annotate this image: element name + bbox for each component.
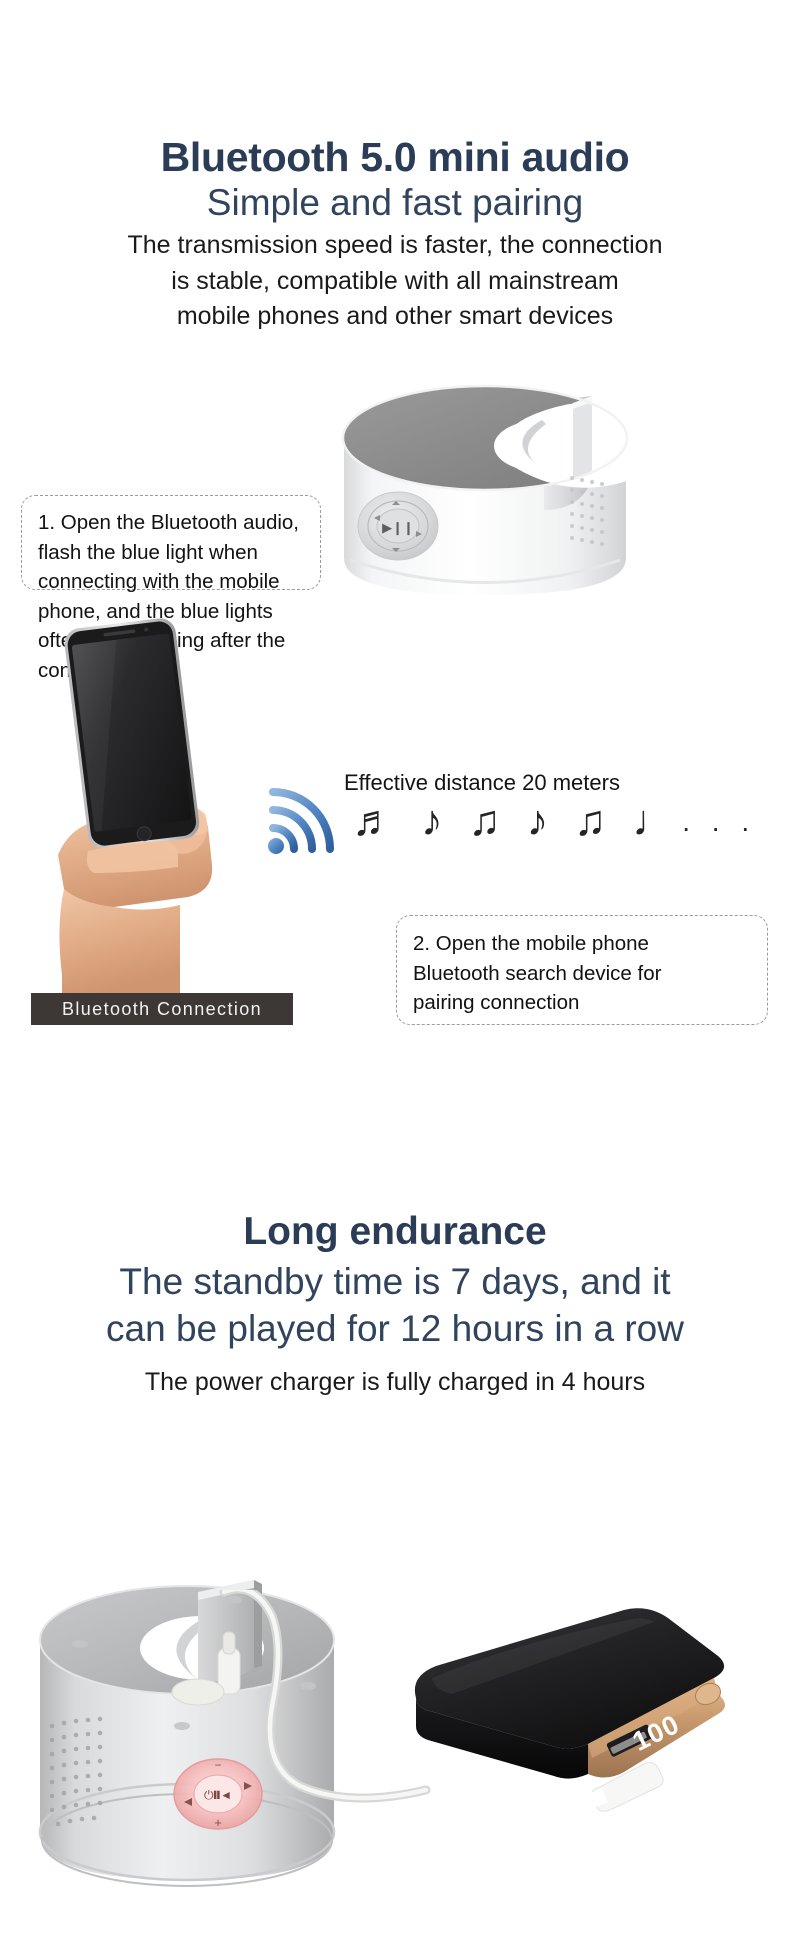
callout1-line-3: connecting with the mobile bbox=[38, 567, 306, 597]
endurance-section-title: Long endurance bbox=[0, 1210, 790, 1254]
svg-text:+: + bbox=[214, 1815, 222, 1830]
white-speaker-image: ▶❙❙ bbox=[330, 360, 640, 610]
callout2-line-3: pairing connection bbox=[413, 988, 751, 1018]
pairing-step-2-callout: 2. Open the mobile phone Bluetooth searc… bbox=[396, 915, 768, 1025]
svg-text:−: − bbox=[214, 1758, 221, 1772]
callout1-line-2: flash the blue light when bbox=[38, 538, 306, 568]
speaker-control-button-lit: ⏻❙❙◄ − + bbox=[174, 1758, 262, 1830]
speaker-control-button: ▶❙❙ bbox=[358, 492, 438, 560]
description-line-1: The transmission speed is faster, the co… bbox=[55, 228, 735, 264]
callout2-line-1: 2. Open the mobile phone bbox=[413, 929, 751, 959]
endurance-subtitle-line-1: The standby time is 7 days, and it bbox=[0, 1258, 790, 1305]
music-notes-glyphs: ♬ ♪ ♫ ♪ ♫ ♩ bbox=[352, 797, 682, 845]
bluetooth-connection-banner: Bluetooth Connection bbox=[31, 993, 293, 1025]
product-detail-page: Bluetooth 5.0 mini audio Simple and fast… bbox=[0, 0, 790, 1954]
music-notes-decoration: ♬ ♪ ♫ ♪ ♫ ♩. . . bbox=[352, 800, 756, 843]
bluetooth-section-description: The transmission speed is faster, the co… bbox=[55, 228, 735, 335]
pairing-step-1-callout: 1. Open the Bluetooth audio, flash the b… bbox=[21, 495, 321, 590]
callout1-line-1: 1. Open the Bluetooth audio, bbox=[38, 508, 306, 538]
bluetooth-section-title: Bluetooth 5.0 mini audio bbox=[0, 136, 790, 179]
bluetooth-section-subtitle: Simple and fast pairing bbox=[0, 182, 790, 225]
svg-text:▶❙❙: ▶❙❙ bbox=[382, 520, 414, 536]
endurance-section-subtitle: The standby time is 7 days, and it can b… bbox=[0, 1258, 790, 1353]
wifi-signal-icon bbox=[263, 780, 349, 858]
description-line-2: is stable, compatible with all mainstrea… bbox=[55, 264, 735, 300]
endurance-subtitle-line-2: can be played for 12 hours in a row bbox=[0, 1305, 790, 1352]
callout2-line-2: Bluetooth search device for bbox=[413, 959, 751, 989]
silver-speaker-image: ⏻❙❙◄ − + bbox=[22, 1540, 352, 1930]
power-bank-image: 100 bbox=[392, 1598, 732, 1828]
music-notes-dots: . . . bbox=[682, 806, 756, 837]
description-line-3: mobile phones and other smart devices bbox=[55, 299, 735, 335]
effective-distance-label: Effective distance 20 meters bbox=[344, 770, 620, 796]
svg-text:⏻❙❙◄: ⏻❙❙◄ bbox=[204, 1788, 232, 1802]
endurance-section-description: The power charger is fully charged in 4 … bbox=[0, 1368, 790, 1397]
